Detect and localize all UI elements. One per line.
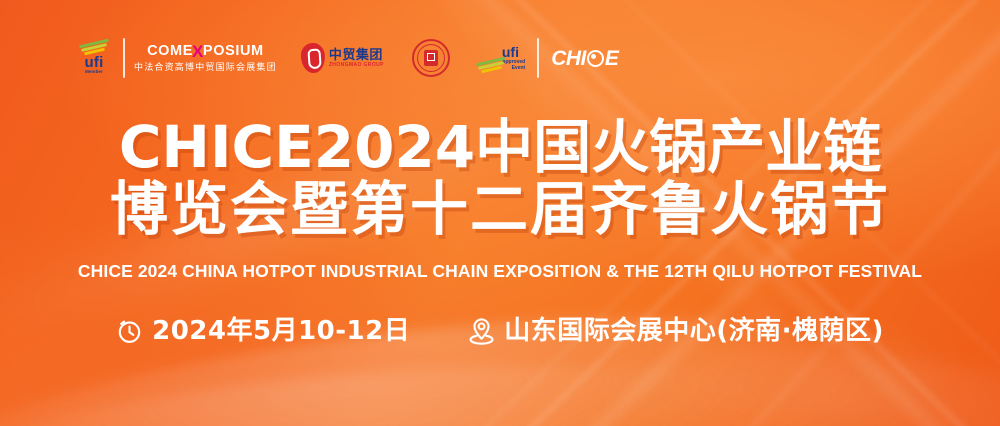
ufi-member-sublabel: Member <box>85 69 103 75</box>
chice-wordmark-logo: CHI E <box>551 32 618 84</box>
background-swoosh <box>0 337 885 426</box>
zhongmao-chinese-label: 中贸集团 <box>329 48 384 61</box>
ufi-swoosh-icon <box>77 41 111 56</box>
comexposium-label-left: COME <box>147 44 193 59</box>
ufi-approved-label: ufi <box>502 45 525 59</box>
zhongmao-english-label: ZHONGMAO GROUP <box>329 63 384 68</box>
chice-dot-icon <box>587 50 604 67</box>
event-banner: ufi Member COME X POSIUM 中法合资高博中贸国际会展集团 … <box>0 0 1000 426</box>
event-date-text: 2024年5月10-12日 <box>152 316 410 346</box>
ufi-approved-event-logo: ufi Approved Event <box>474 32 525 84</box>
headline-block: CHICE2024中国火锅产业链 博览会暨第十二届齐鲁火锅节 <box>0 116 1000 240</box>
zhongmao-group-logo: 中贸集团 ZHONGMAO GROUP <box>301 32 384 84</box>
logo-divider <box>123 38 125 78</box>
event-date-info: 2024年5月10-12日 <box>116 316 410 346</box>
logo-divider <box>537 38 539 78</box>
english-subtitle: CHICE 2024 CHINA HOTPOT INDUSTRIAL CHAIN… <box>0 261 1000 282</box>
headline-line-1: CHICE2024中国火锅产业链 <box>0 116 1000 178</box>
ufi-member-logo: ufi Member <box>74 32 114 84</box>
event-venue-info: 山东国际会展中心(济南·槐荫区) <box>468 316 884 346</box>
chice-label-left: CHI <box>551 48 586 69</box>
comexposium-chinese-label: 中法合资高博中贸国际会展集团 <box>134 62 277 73</box>
ufi-swoosh-icon <box>474 59 500 72</box>
event-venue-text: 山东国际会展中心(济南·槐荫区) <box>504 316 884 346</box>
ufi-approved-sublabel-2: Event <box>502 65 525 72</box>
chice-label-right: E <box>605 48 619 69</box>
event-info-row: 2024年5月10-12日 山东国际会展中心(济南·槐荫区) <box>0 316 1000 346</box>
association-seal-logo <box>412 32 450 84</box>
clock-icon <box>116 318 143 345</box>
headline-line-2: 博览会暨第十二届齐鲁火锅节 <box>0 178 1000 240</box>
map-pin-icon <box>468 317 495 346</box>
sponsor-logo-strip: ufi Member COME X POSIUM 中法合资高博中贸国际会展集团 … <box>74 32 618 84</box>
zhongmao-droplet-icon <box>300 42 326 74</box>
comexposium-logo: COME X POSIUM 中法合资高博中贸国际会展集团 <box>134 32 277 84</box>
comexposium-label-right: POSIUM <box>203 44 264 59</box>
association-seal-icon <box>412 39 450 77</box>
ufi-member-label: ufi <box>85 56 104 69</box>
